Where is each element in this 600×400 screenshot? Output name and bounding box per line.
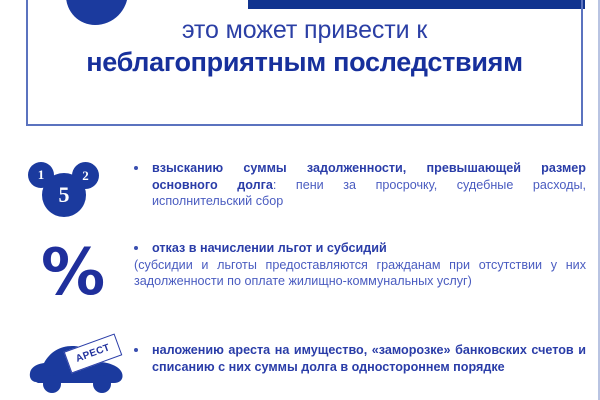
list-item: АРЕСТ наложению ареста на имущество, «за… bbox=[24, 342, 586, 400]
item-bold-text: наложению ареста на имущество, «заморозк… bbox=[152, 343, 586, 374]
percent-glyph: % bbox=[30, 244, 116, 306]
item-paragraph: отказ в начислении льгот и субсидий bbox=[134, 240, 586, 257]
list-item: 1 2 5 взысканию суммы задолженности, пре… bbox=[24, 160, 586, 230]
heading-line-2: неблагоприятным последствиям bbox=[26, 49, 583, 76]
item-paragraph: наложению ареста на имущество, «заморозк… bbox=[134, 342, 586, 375]
car-wheel-front bbox=[43, 375, 61, 393]
list-item-text: наложению ареста на имущество, «заморозк… bbox=[134, 342, 586, 375]
page-title: это может привести к неблагоприятным пос… bbox=[26, 18, 583, 76]
list-item: % отказ в начислении льгот и субсидий (с… bbox=[24, 240, 586, 310]
car-seizure-icon: АРЕСТ bbox=[24, 342, 134, 400]
numbered-circles-icon: 1 2 5 bbox=[24, 160, 134, 230]
circle-five: 5 bbox=[42, 173, 86, 217]
list-item-text: взысканию суммы задолженности, превышающ… bbox=[134, 160, 586, 210]
item-paragraph-continued: (субсидии и льготы предоставляются гражд… bbox=[134, 257, 586, 290]
bullet-dot-icon bbox=[134, 166, 138, 170]
list-item-text: отказ в начислении льгот и субсидий (суб… bbox=[134, 240, 586, 290]
percent-icon: % bbox=[24, 240, 134, 310]
poster-page: это может привести к неблагоприятным пос… bbox=[0, 0, 600, 400]
circle-group: 1 2 5 bbox=[28, 162, 114, 224]
item-paragraph: взысканию суммы задолженности, превышающ… bbox=[134, 160, 586, 210]
item-bold-text: отказ в начислении льгот и субсидий bbox=[152, 241, 387, 255]
car-wheel-rear bbox=[93, 375, 111, 393]
bullet-dot-icon bbox=[134, 348, 138, 352]
heading-line-1: это может привести к bbox=[26, 18, 583, 43]
bullet-dot-icon bbox=[134, 246, 138, 250]
